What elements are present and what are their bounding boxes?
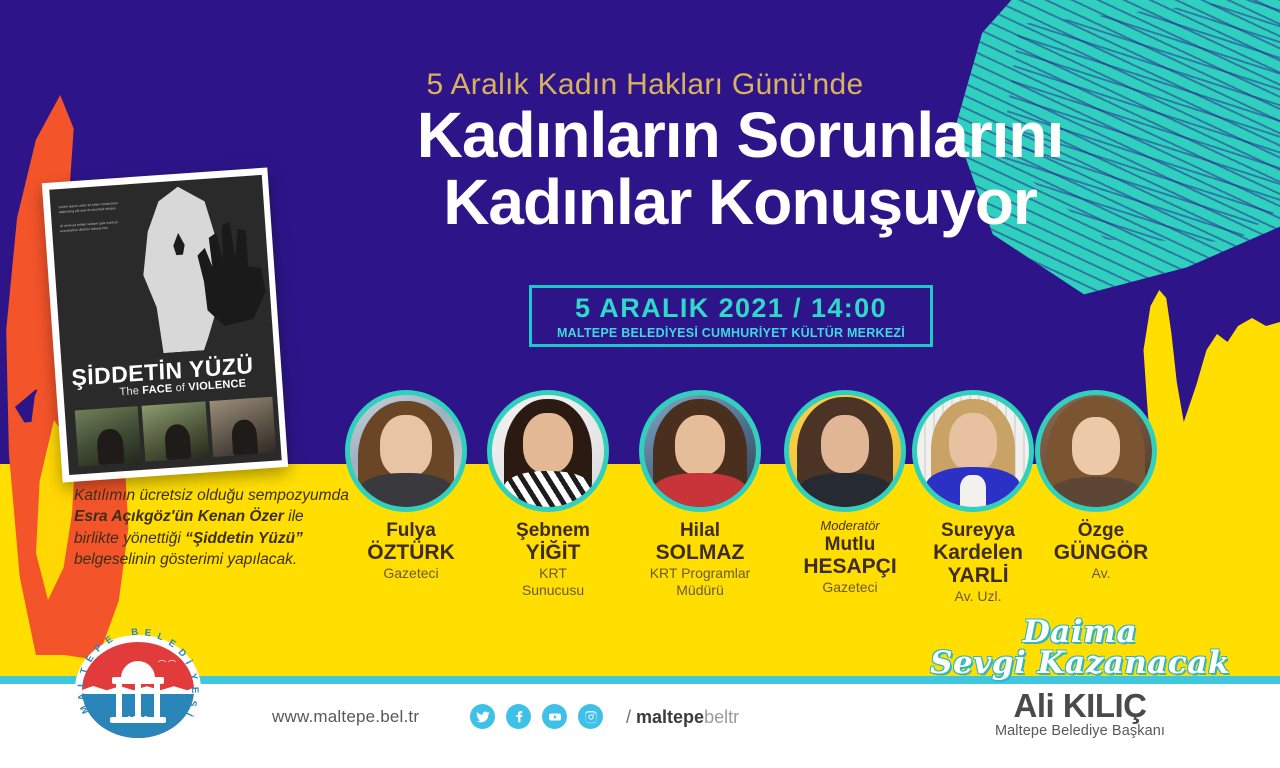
avatar [487, 390, 609, 512]
youtube-icon[interactable] [542, 704, 567, 729]
slogan-line-2: Sevgi Kazanacak [930, 647, 1230, 680]
speaker-role: Gazeteci [345, 565, 477, 582]
avatar [784, 390, 906, 512]
speaker-last-name: GÜNGÖR [1035, 541, 1167, 564]
speaker-first-name: Mutlu [784, 534, 916, 555]
speaker-last-name: Kardelen YARLİ [912, 541, 1044, 587]
avatar [345, 390, 467, 512]
avatar [1035, 390, 1157, 512]
speaker-role: KRT Sunucusu [487, 565, 619, 599]
speaker-role: Av. Uzl. [912, 588, 1044, 605]
twitter-icon[interactable] [470, 704, 495, 729]
speaker-last-name: HESAPÇI [784, 555, 916, 578]
mayor-title: Maltepe Belediye Başkanı [930, 723, 1230, 739]
social-links [470, 704, 603, 729]
social-handle[interactable]: / maltepebeltr [626, 707, 739, 728]
speaker-first-name: Sureyya [912, 520, 1044, 541]
avatar [912, 390, 1034, 512]
speaker-card-5: Sureyya Kardelen YARLİ Av. Uzl. [912, 390, 1044, 605]
facebook-icon[interactable] [506, 704, 531, 729]
speaker-card-2: Şebnem YİĞİT KRT Sunucusu [487, 390, 619, 599]
avatar [639, 390, 761, 512]
speaker-card-1: Fulya ÖZTÜRK Gazeteci [345, 390, 477, 582]
speaker-card-4: Moderatör Mutlu HESAPÇI Gazeteci [784, 390, 916, 596]
speaker-last-name: SOLMAZ [629, 541, 771, 564]
speaker-moderator-label: Moderatör [784, 518, 916, 533]
speaker-card-6: Özge GÜNGÖR Av. [1035, 390, 1167, 582]
mayor-signature-block: Daima Sevgi Kazanacak Ali KILIÇ Maltepe … [930, 616, 1230, 739]
speaker-first-name: Şebnem [487, 520, 619, 541]
speaker-first-name: Fulya [345, 520, 477, 541]
event-poster: Lorem ipsum dolor sit amet consectetur a… [0, 0, 1280, 768]
speaker-card-3: Hilal SOLMAZ KRT Programlar Müdürü [629, 390, 771, 599]
speaker-first-name: Hilal [629, 520, 771, 541]
speaker-role: KRT Programlar Müdürü [629, 565, 771, 599]
speaker-role: Av. [1035, 565, 1167, 582]
website-url[interactable]: www.maltepe.bel.tr [272, 707, 419, 727]
slogan-line-1: Daima [930, 616, 1230, 649]
maltepe-municipality-logo: ⌒⌒ 1992 MALTEPE BELEDİYESİ [63, 633, 213, 745]
speaker-last-name: YİĞİT [487, 541, 619, 564]
instagram-icon[interactable] [578, 704, 603, 729]
speaker-role: Gazeteci [784, 579, 916, 596]
logo-arc-text: MALTEPE BELEDİYESİ [63, 633, 213, 745]
speaker-first-name: Özge [1035, 520, 1167, 541]
mayor-name: Ali KILIÇ [930, 687, 1230, 725]
speaker-last-name: ÖZTÜRK [345, 541, 477, 564]
